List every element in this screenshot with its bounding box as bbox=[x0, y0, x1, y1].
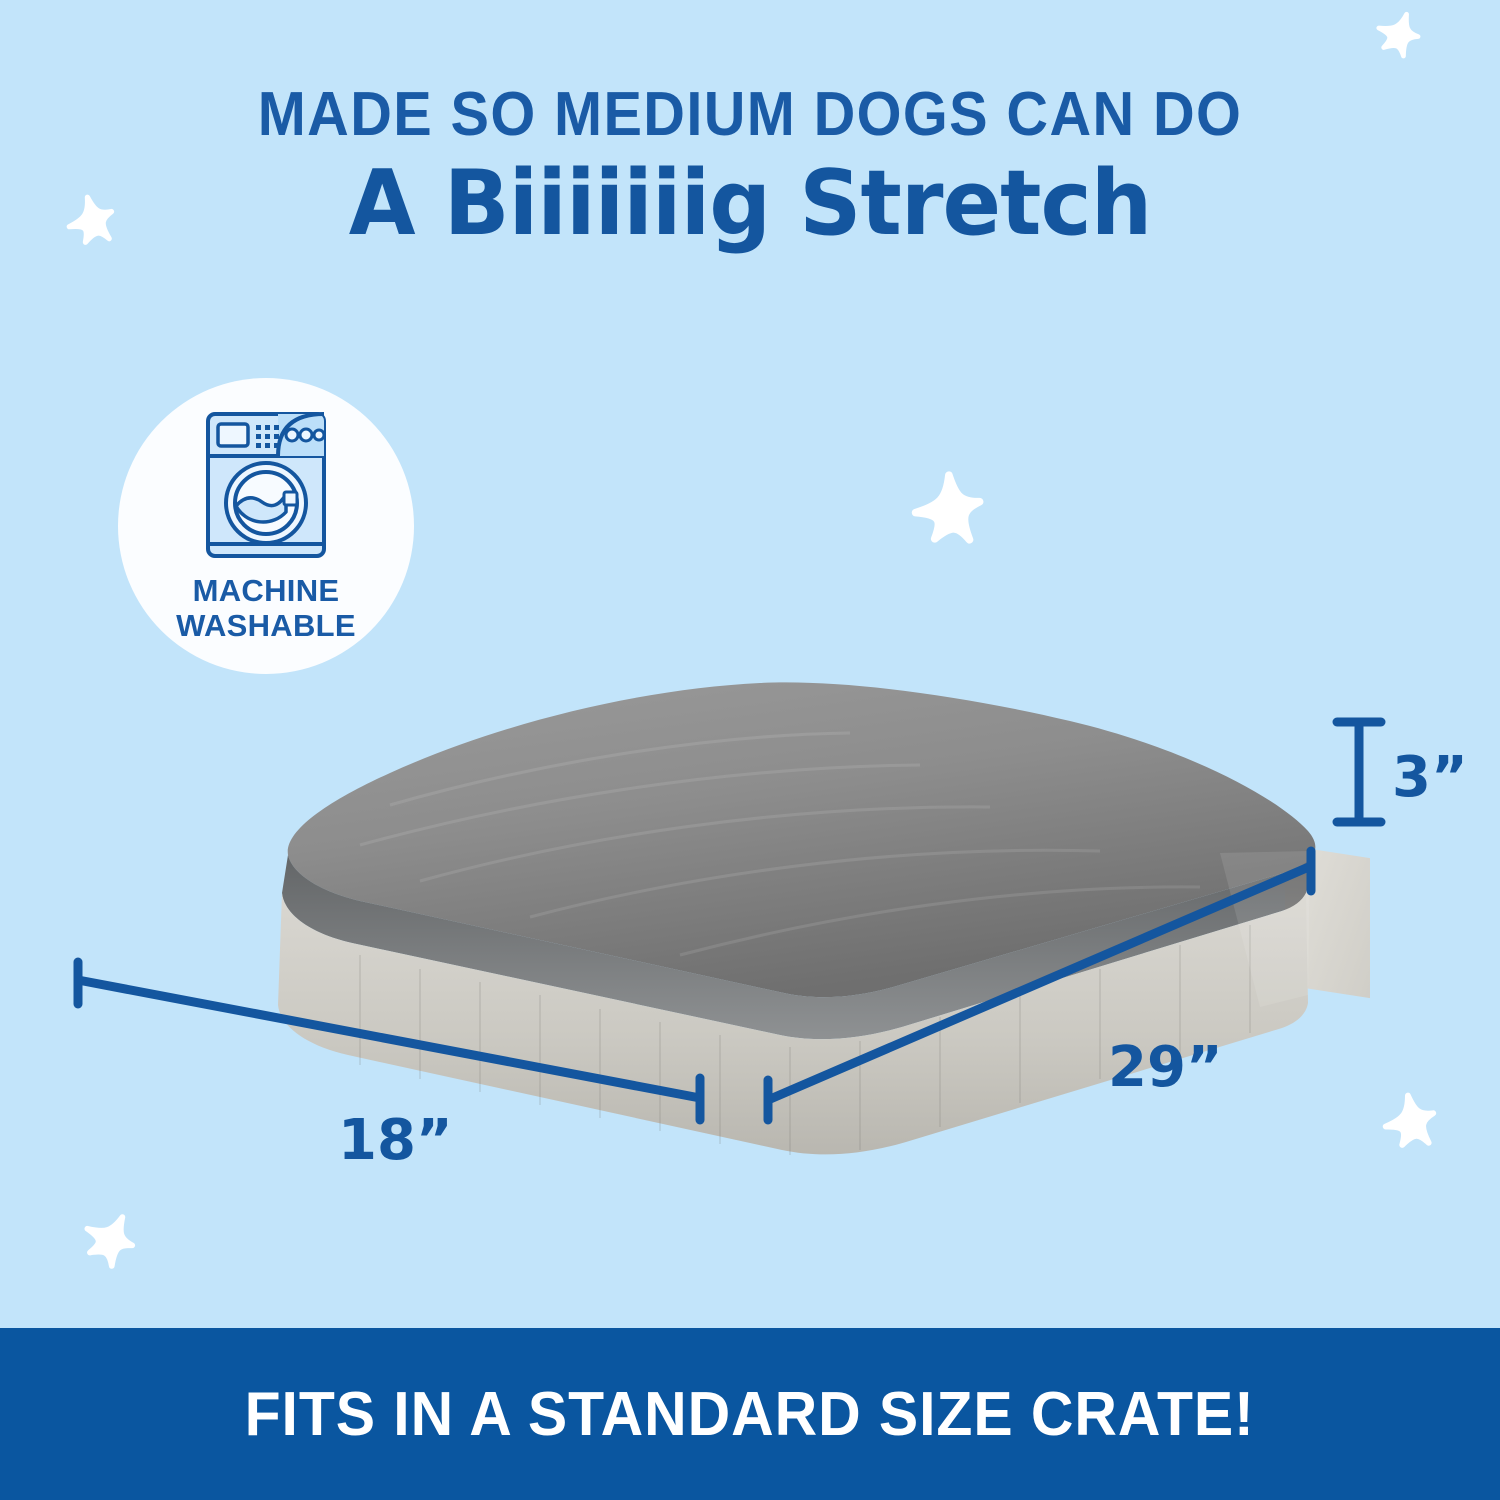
headline-block: MADE SO MEDIUM DOGS CAN DO A Biiiiiiig S… bbox=[0, 82, 1500, 249]
washing-machine-icon bbox=[200, 408, 332, 562]
star-icon bbox=[69, 1199, 150, 1280]
star-icon bbox=[1371, 1083, 1449, 1161]
dimension-label-width: 18” bbox=[338, 1108, 453, 1173]
headline-eyebrow: MADE SO MEDIUM DOGS CAN DO bbox=[53, 82, 1448, 147]
dimension-label-height: 3” bbox=[1392, 745, 1468, 810]
bottom-banner-text: FITS IN A STANDARD SIZE CRATE! bbox=[245, 1379, 1255, 1450]
dimension-label-length: 29” bbox=[1108, 1035, 1223, 1100]
bottom-banner: FITS IN A STANDARD SIZE CRATE! bbox=[0, 1328, 1500, 1500]
badge-line-1: MACHINE bbox=[176, 574, 356, 609]
star-icon bbox=[901, 463, 996, 558]
machine-washable-badge: MACHINE WASHABLE bbox=[118, 378, 414, 674]
badge-line-2: WASHABLE bbox=[176, 609, 356, 644]
headline-title: A Biiiiiiig Stretch bbox=[30, 159, 1470, 249]
star-icon bbox=[1366, 2, 1429, 65]
infographic-canvas: MADE SO MEDIUM DOGS CAN DO A Biiiiiiig S… bbox=[0, 0, 1500, 1500]
machine-washable-label: MACHINE WASHABLE bbox=[176, 574, 356, 643]
